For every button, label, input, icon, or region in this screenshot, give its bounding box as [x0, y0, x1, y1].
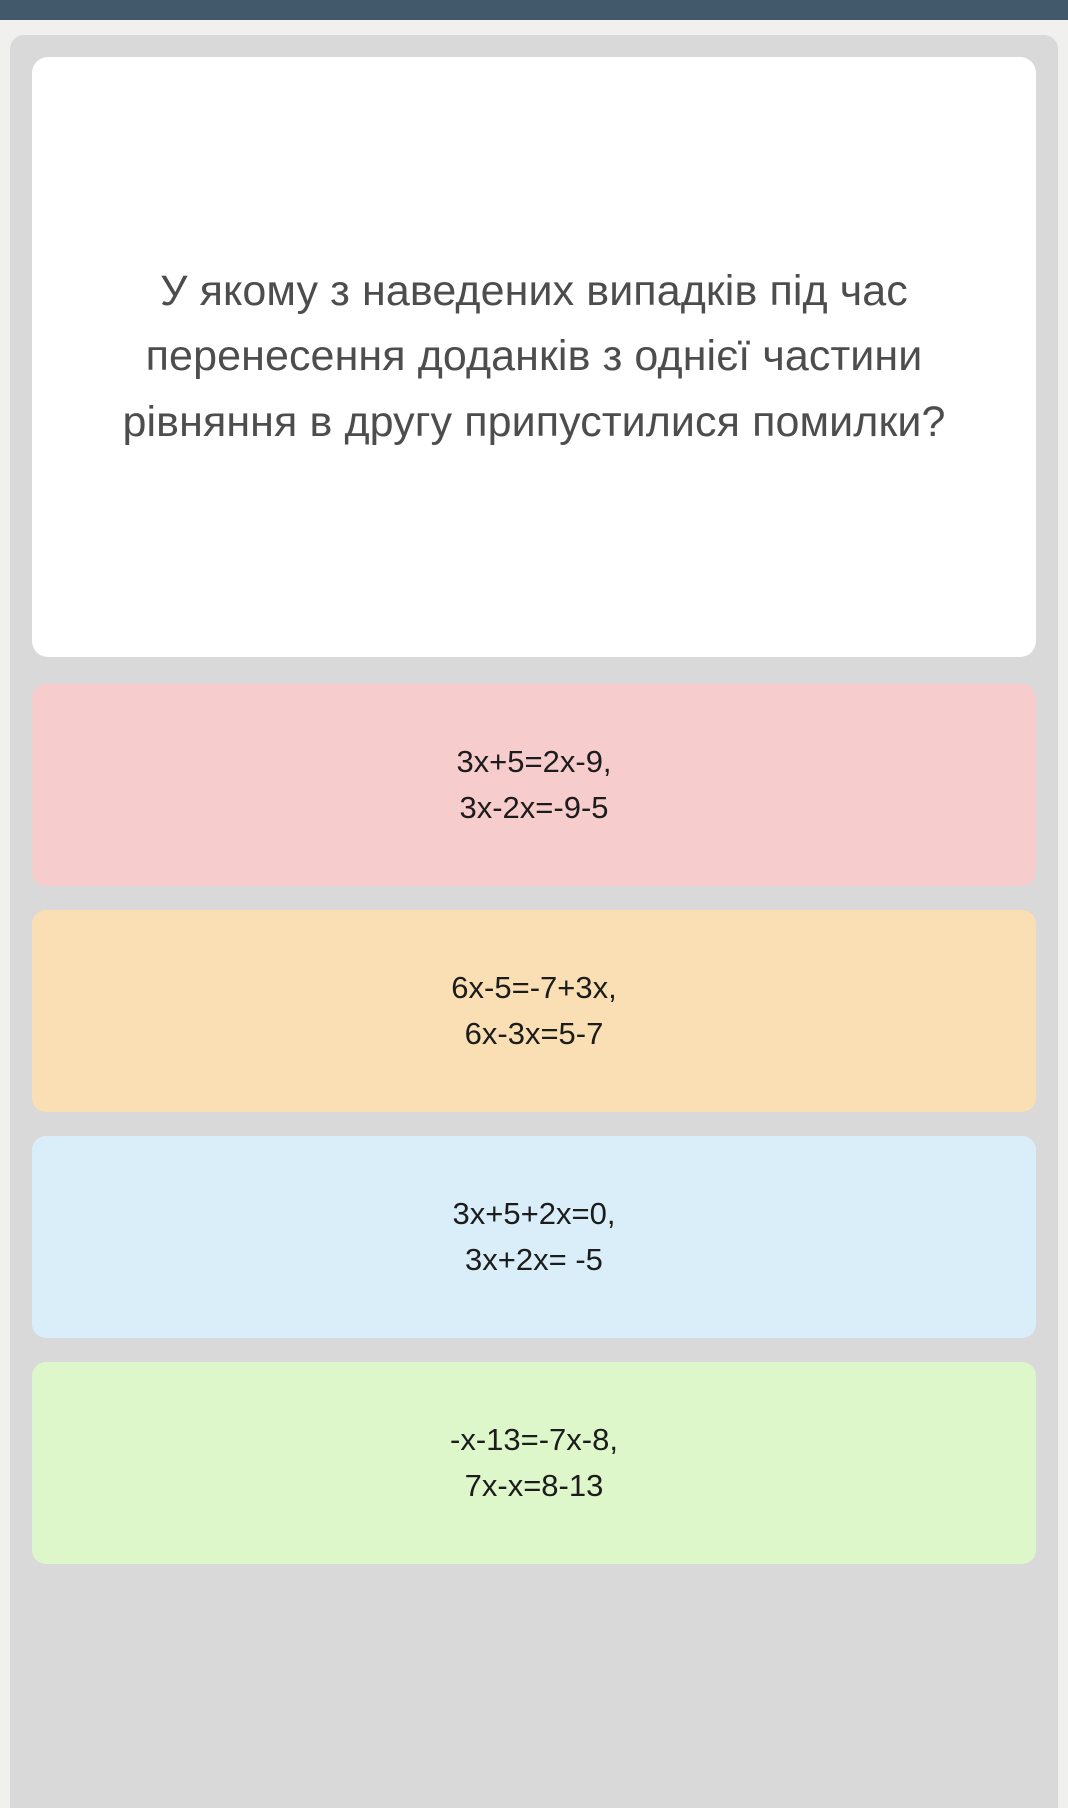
page-root: У якому з наведених випадків під час пер… — [0, 0, 1068, 1808]
answer-option-a[interactable]: 3x+5=2x-9, 3x-2x=-9-5 — [32, 684, 1036, 886]
answer-option-d-label: -x-13=-7x-8, 7x-x=8-13 — [450, 1417, 618, 1508]
answer-option-a-label: 3x+5=2x-9, 3x-2x=-9-5 — [456, 739, 611, 830]
question-text: У якому з наведених випадків під час пер… — [60, 259, 1008, 455]
answer-option-b[interactable]: 6x-5=-7+3x, 6x-3x=5-7 — [32, 910, 1036, 1112]
answer-option-c[interactable]: 3x+5+2x=0, 3x+2x= -5 — [32, 1136, 1036, 1338]
question-card: У якому з наведених випадків під час пер… — [32, 57, 1036, 657]
answer-option-d[interactable]: -x-13=-7x-8, 7x-x=8-13 — [32, 1362, 1036, 1564]
quiz-container: У якому з наведених випадків під час пер… — [10, 35, 1058, 1808]
answer-options-list: 3x+5=2x-9, 3x-2x=-9-5 6x-5=-7+3x, 6x-3x=… — [32, 684, 1036, 1564]
answer-option-c-label: 3x+5+2x=0, 3x+2x= -5 — [453, 1191, 616, 1282]
status-bar — [0, 0, 1068, 20]
answer-option-b-label: 6x-5=-7+3x, 6x-3x=5-7 — [451, 965, 616, 1056]
